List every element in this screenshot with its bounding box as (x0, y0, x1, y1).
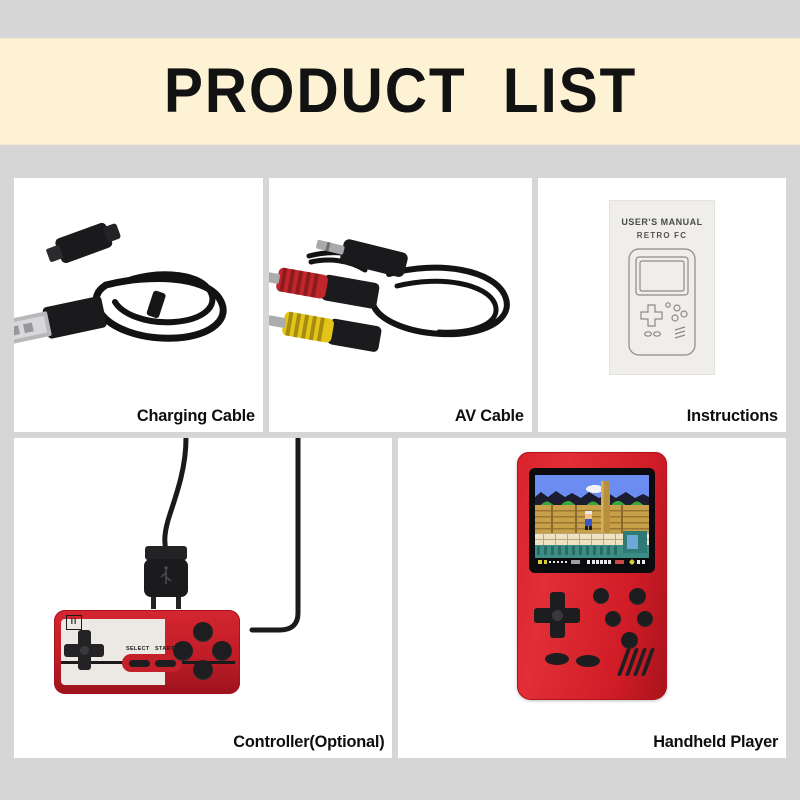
handheld-button-a[interactable] (629, 588, 646, 605)
product-card-av-cable[interactable]: AV Cable (269, 178, 532, 432)
product-card-handheld[interactable]: Handheld Player (398, 438, 786, 758)
handheld-button-select[interactable] (605, 611, 621, 627)
product-row-bottom: II SELECT START Controller(Optional) (14, 438, 786, 758)
gamepad-button-right[interactable] (212, 641, 232, 661)
controller-cable-image (14, 438, 392, 758)
handheld-dpad-center (552, 610, 563, 621)
product-card-charging-cable[interactable]: Charging Cable (14, 178, 263, 432)
gamepad-button-up[interactable] (193, 622, 213, 642)
card-label-controller: Controller(Optional) (233, 732, 384, 752)
manual-booklet: USER'S MANUAL RETRO FC (609, 200, 715, 375)
card-label-instructions: Instructions (687, 406, 778, 426)
handheld-console-body[interactable] (517, 452, 667, 700)
dpad-center (80, 646, 89, 655)
gamepad-button-down[interactable] (193, 660, 213, 680)
product-card-instructions[interactable]: USER'S MANUAL RETRO FC (538, 178, 786, 432)
handheld-screen-bezel (529, 468, 655, 573)
av-cable-image (269, 178, 532, 432)
header-banner: PRODUCT LIST (0, 38, 800, 145)
product-row-top: Charging Cable (14, 178, 786, 432)
card-label-handheld: Handheld Player (653, 732, 778, 752)
charging-cable-image (14, 178, 263, 432)
gamepad-select-button[interactable] (129, 660, 150, 667)
handheld-button-b[interactable] (637, 611, 653, 627)
manual-console-illustration (625, 246, 699, 358)
gamepad-start-label: START (155, 646, 174, 652)
card-label-av-cable: AV Cable (455, 406, 524, 426)
gamepad-select-start-plate (122, 654, 182, 672)
gamepad-select-label: SELECT (126, 646, 150, 652)
gamepad-dpad[interactable] (64, 630, 104, 670)
handheld-dpad[interactable] (534, 592, 580, 638)
product-grid: Charging Cable (14, 178, 786, 758)
handheld-game-screen (535, 475, 649, 566)
manual-title: USER'S MANUAL (609, 217, 715, 227)
manual-subtitle: RETRO FC (609, 231, 715, 240)
card-label-charging-cable: Charging Cable (137, 406, 255, 426)
gamepad-start-button[interactable] (155, 660, 176, 667)
gamepad-body[interactable]: II SELECT START (54, 610, 240, 694)
handheld-oval-button-right[interactable] (576, 655, 600, 667)
page-title: PRODUCT LIST (163, 60, 636, 123)
gamepad-button-left[interactable] (173, 641, 193, 661)
handheld-button-start[interactable] (593, 588, 609, 604)
product-card-controller[interactable]: II SELECT START Controller(Optional) (14, 438, 392, 758)
handheld-button-c[interactable] (621, 632, 638, 649)
gamepad-player-badge: II (66, 615, 82, 630)
handheld-oval-button-left[interactable] (545, 653, 569, 665)
